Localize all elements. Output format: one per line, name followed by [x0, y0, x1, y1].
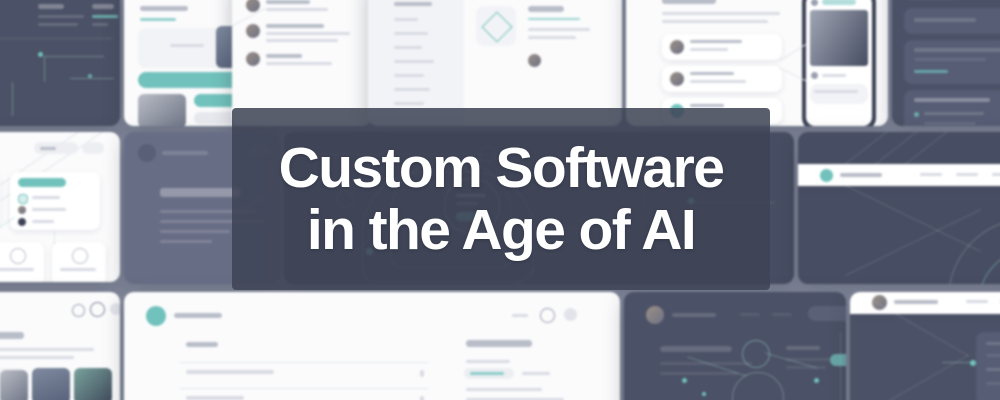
hero-title-line-2: in the Age of AI	[307, 199, 695, 261]
collage-tile-13	[624, 292, 846, 400]
collage-tile-1	[0, 0, 120, 126]
collage-tile-14	[850, 292, 1000, 400]
collage-tile-6	[892, 0, 1000, 126]
collage-tile-7	[0, 132, 120, 282]
hero-title-line-1: Custom Software	[279, 137, 724, 199]
collage-tile-10	[798, 132, 1000, 284]
collage-tile-11	[0, 292, 120, 400]
hero-banner: Custom Software in the Age of AI	[0, 0, 1000, 400]
hero-title: Custom Software in the Age of AI	[232, 108, 770, 290]
collage-tile-12	[124, 292, 620, 400]
